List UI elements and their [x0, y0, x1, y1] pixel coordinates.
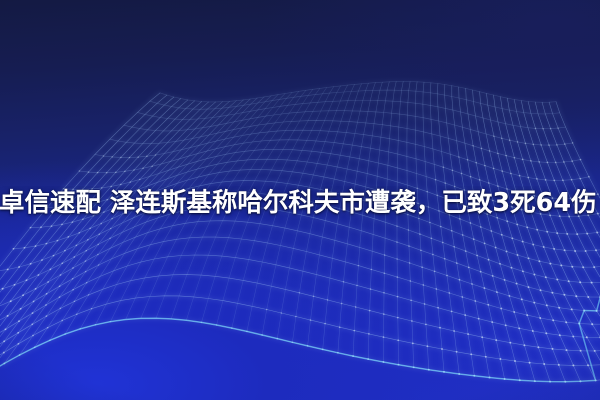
headline-banner: 卓信速配 泽连斯基称哈尔科夫市遭袭，已致3死64伤 — [0, 186, 600, 220]
headline-text: 卓信速配 泽连斯基称哈尔科夫市遭袭，已致3死64伤 — [0, 188, 597, 218]
banner-image: 卓信速配 泽连斯基称哈尔科夫市遭袭，已致3死64伤 — [0, 0, 600, 400]
